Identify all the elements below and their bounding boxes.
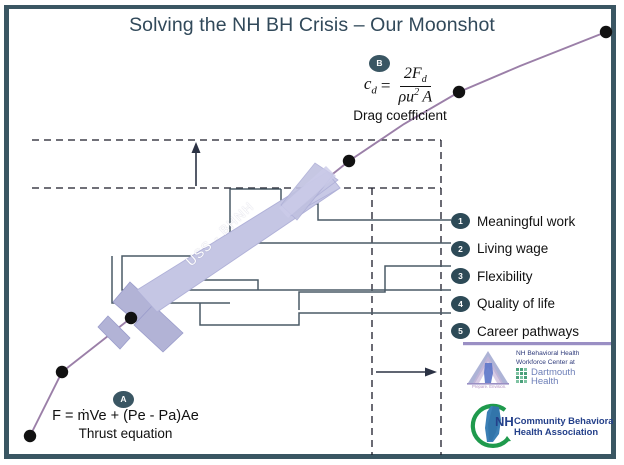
equals-sign: = (381, 77, 391, 94)
legend-label-1: Meaningful work (477, 214, 575, 229)
legend-badge-4: 4 (451, 296, 470, 312)
logo1-brand-line2: Health (531, 376, 558, 387)
logo-nh-community-behavioral-health-association: NH Community Behavioral Health Associati… (463, 398, 613, 448)
legend-badge-2: 2 (451, 241, 470, 257)
legend-item-1[interactable]: 1 Meaningful work (451, 209, 621, 233)
legend-label-5: Career pathways (477, 324, 579, 339)
legend-item-4[interactable]: 4 Quality of life (451, 292, 621, 316)
logo1-dartmouth-mark (516, 368, 527, 383)
page-title: Solving the NH BH Crisis – Our Moonshot (0, 14, 624, 37)
legend-item-2[interactable]: 2 Living wage (451, 237, 621, 261)
legend-list: 1 Meaningful work 2 Living wage 3 Flexib… (451, 209, 621, 347)
legend-item-3[interactable]: 3 Flexibility (451, 264, 621, 288)
slide-canvas: Solving the NH BH Crisis – Our Moonshot … (0, 0, 624, 465)
legend-badge-1: 1 (451, 213, 470, 229)
drag-coefficient-math: cd = 2Fd ρu2 A (300, 66, 500, 106)
drag-coefficient-equation: cd = 2Fd ρu2 A Drag coefficient (300, 66, 500, 123)
drag-fraction: 2Fd ρu2 A (394, 66, 436, 106)
legend-badge-3: 3 (451, 268, 470, 284)
logo2-line1: Community Behavioral (514, 415, 613, 426)
badge-a: A (113, 391, 134, 408)
logo1-subtitle: Prepare. Envision. (472, 384, 506, 389)
legend-badge-5: 5 (451, 323, 470, 339)
cd-symbol: cd (364, 75, 377, 96)
logo2-line2: Health Association (514, 426, 598, 437)
frame-top-shade (0, 0, 624, 5)
fraction-denominator: ρu2 A (394, 87, 436, 105)
logo1-mark (467, 351, 509, 385)
fraction-numerator: 2Fd (400, 66, 431, 87)
legend-label-2: Living wage (477, 241, 548, 256)
thrust-equation-math: F = ṁVe + (Pe - Pa)Ae (18, 408, 233, 424)
logo1-line1: NH Behavioral Health (516, 350, 580, 357)
thrust-equation: F = ṁVe + (Pe - Pa)Ae Thrust equation (18, 408, 233, 441)
thrust-equation-caption: Thrust equation (18, 426, 233, 441)
drag-coefficient-caption: Drag coefficient (300, 108, 500, 123)
logo1-line2: Workforce Center at (516, 359, 575, 366)
logo-nh-behavioral-health-workforce-center: NH Behavioral Health Workforce Center at… (461, 341, 613, 391)
logo2-initials: NH (495, 414, 514, 429)
legend-label-3: Flexibility (477, 269, 533, 284)
logo1-top-bar (463, 342, 611, 345)
legend-label-4: Quality of life (477, 296, 555, 311)
badge-a-label: A (113, 391, 134, 408)
legend-item-5[interactable]: 5 Career pathways (451, 319, 621, 343)
